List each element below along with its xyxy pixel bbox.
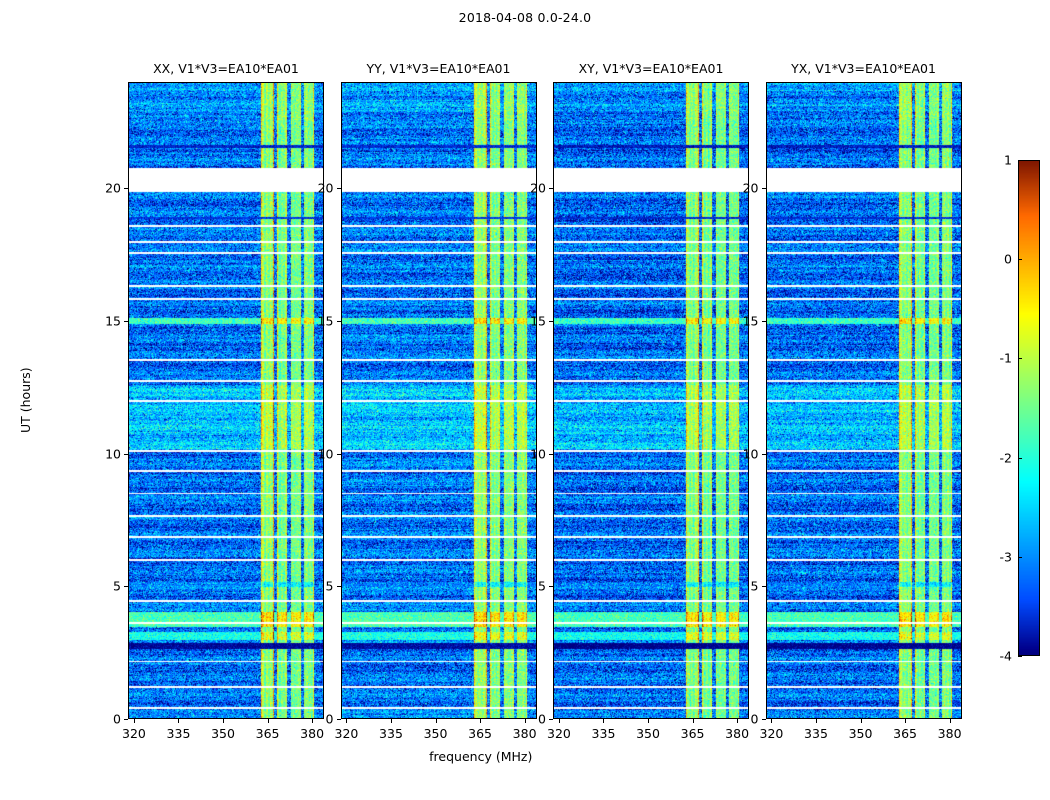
y-tickmark [337, 188, 341, 189]
x-tick-label: 350 [211, 726, 235, 741]
y-tick-label: 20 [513, 181, 546, 196]
colorbar-tickmark [1018, 259, 1022, 260]
x-tick-label: 350 [424, 726, 448, 741]
panel-title-yy: YY, V1*V3=EA10*EA01 [367, 61, 511, 76]
y-tickmark [337, 321, 341, 322]
y-tickmark [762, 188, 766, 189]
x-tickmark [816, 719, 817, 723]
panel-xx[interactable]: XX, V1*V3=EA10*EA01 [128, 82, 324, 719]
x-tickmark [223, 719, 224, 723]
panel-yy[interactable]: YY, V1*V3=EA10*EA01 [341, 82, 537, 719]
y-tickmark [549, 586, 553, 587]
x-tickmark [905, 719, 906, 723]
waterfall-image-yy[interactable] [341, 82, 537, 719]
y-tick-label: 10 [301, 446, 334, 461]
y-tickmark [549, 188, 553, 189]
x-tick-label: 320 [760, 726, 784, 741]
x-tick-label: 365 [893, 726, 917, 741]
y-tickmark [337, 586, 341, 587]
y-tick-label: 5 [88, 579, 121, 594]
x-tick-label: 380 [300, 726, 324, 741]
colorbar[interactable] [1018, 160, 1040, 656]
y-tickmark [549, 321, 553, 322]
x-tick-label: 365 [468, 726, 492, 741]
x-tick-label: 380 [938, 726, 962, 741]
colorbar-tick-label: -2 [976, 450, 1012, 465]
x-axis-label: frequency (MHz) [0, 749, 962, 764]
panel-title-xx: XX, V1*V3=EA10*EA01 [153, 61, 299, 76]
x-tick-label: 320 [335, 726, 359, 741]
colorbar-tick-label: 1 [976, 153, 1012, 168]
panel-title-xy: XY, V1*V3=EA10*EA01 [579, 61, 724, 76]
colorbar-tick-label: -1 [976, 351, 1012, 366]
y-tick-label: 15 [301, 313, 334, 328]
x-tick-label: 350 [636, 726, 660, 741]
y-tick-label: 5 [513, 579, 546, 594]
y-tick-label: 15 [88, 313, 121, 328]
colorbar-tickmark [1018, 458, 1022, 459]
y-tickmark [549, 719, 553, 720]
x-tickmark [134, 719, 135, 723]
panel-xy[interactable]: XY, V1*V3=EA10*EA01 [553, 82, 749, 719]
x-tick-label: 380 [513, 726, 537, 741]
waterfall-image-xx[interactable] [128, 82, 324, 719]
colorbar-tick-label: 0 [976, 252, 1012, 267]
y-tick-label: 20 [88, 181, 121, 196]
y-tickmark [762, 454, 766, 455]
y-tick-label: 10 [726, 446, 759, 461]
x-tick-label: 320 [122, 726, 146, 741]
x-tickmark [559, 719, 560, 723]
y-tickmark [124, 719, 128, 720]
x-tickmark [346, 719, 347, 723]
colorbar-tickmark [1018, 557, 1022, 558]
colorbar-gradient [1018, 160, 1040, 656]
colorbar-tickmark [1018, 656, 1022, 657]
y-tickmark [762, 321, 766, 322]
y-axis-label: UT (hours) [18, 367, 33, 433]
x-tick-label: 365 [256, 726, 280, 741]
x-tickmark [861, 719, 862, 723]
y-tickmark [124, 188, 128, 189]
colorbar-tickmark [1018, 160, 1022, 161]
x-tick-label: 350 [849, 726, 873, 741]
x-tickmark [603, 719, 604, 723]
x-tickmark [693, 719, 694, 723]
y-tickmark [762, 719, 766, 720]
x-tick-label: 335 [379, 726, 403, 741]
x-tickmark [771, 719, 772, 723]
y-tick-label: 0 [726, 712, 759, 727]
y-tick-label: 10 [513, 446, 546, 461]
x-tickmark [480, 719, 481, 723]
panel-title-yx: YX, V1*V3=EA10*EA01 [791, 61, 936, 76]
x-tickmark [950, 719, 951, 723]
colorbar-canvas [1019, 161, 1039, 655]
waterfall-image-xy[interactable] [553, 82, 749, 719]
y-tick-label: 5 [301, 579, 334, 594]
y-tick-label: 0 [513, 712, 546, 727]
y-tickmark [124, 586, 128, 587]
y-tickmark [124, 321, 128, 322]
y-tickmark [549, 454, 553, 455]
waterfall-image-yx[interactable] [766, 82, 962, 719]
y-tick-label: 20 [726, 181, 759, 196]
x-tick-label: 380 [725, 726, 749, 741]
y-tick-label: 0 [88, 712, 121, 727]
x-tick-label: 335 [167, 726, 191, 741]
x-tickmark [391, 719, 392, 723]
x-tickmark [178, 719, 179, 723]
x-tickmark [648, 719, 649, 723]
y-tick-label: 15 [513, 313, 546, 328]
x-tick-label: 335 [804, 726, 828, 741]
y-tickmark [762, 586, 766, 587]
y-tick-label: 20 [301, 181, 334, 196]
colorbar-tick-label: -4 [976, 649, 1012, 664]
x-tickmark [436, 719, 437, 723]
y-tick-label: 0 [301, 712, 334, 727]
panel-yx[interactable]: YX, V1*V3=EA10*EA01 [766, 82, 962, 719]
y-tickmark [124, 454, 128, 455]
figure-title: 2018-04-08 0.0-24.0 [0, 10, 1050, 25]
y-tickmark [337, 719, 341, 720]
y-tick-label: 10 [88, 446, 121, 461]
colorbar-tickmark [1018, 358, 1022, 359]
x-tick-label: 335 [592, 726, 616, 741]
x-tick-label: 320 [547, 726, 571, 741]
colorbar-tick-label: -3 [976, 549, 1012, 564]
x-tickmark [268, 719, 269, 723]
y-tick-label: 15 [726, 313, 759, 328]
x-tick-label: 365 [681, 726, 705, 741]
y-tickmark [337, 454, 341, 455]
y-tick-label: 5 [726, 579, 759, 594]
